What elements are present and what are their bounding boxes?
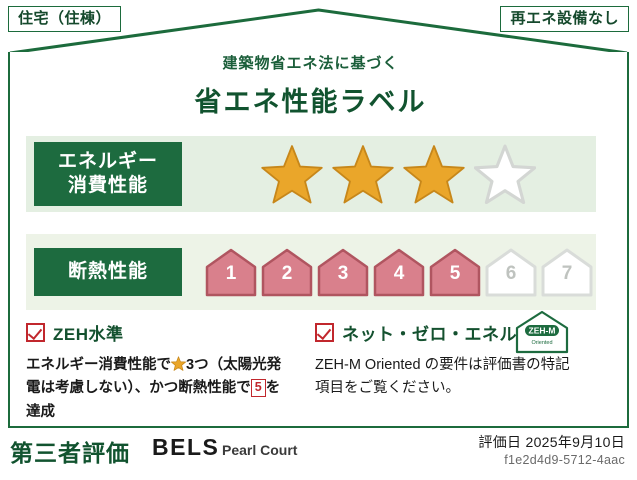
title-main: 省エネ性能ラベル bbox=[0, 80, 621, 119]
grade-value-3: 3 bbox=[317, 263, 369, 285]
star-rating bbox=[182, 144, 596, 204]
grade-house-3: 3 bbox=[317, 247, 369, 297]
energy-performance-row: エネルギー 消費性能 bbox=[26, 136, 596, 212]
grade-value-4: 4 bbox=[373, 263, 425, 285]
check-zeh-header: ZEH水準 bbox=[26, 320, 315, 345]
footer: 第三者評価 BELS Pearl Court 評価日 2025年9月10日 f1… bbox=[0, 428, 637, 480]
check-nze-body: ZEH-M Oriented の要件は評価書の特記 項目をご覧ください。 bbox=[315, 354, 583, 401]
svg-text:ZEH-M: ZEH-M bbox=[529, 326, 556, 336]
grade-house-2: 2 bbox=[261, 247, 313, 297]
star-icon-filled-3 bbox=[403, 144, 465, 204]
grade-value-2: 2 bbox=[261, 263, 313, 285]
zeh-m-logo-icon: ZEH-M Oriented bbox=[514, 310, 570, 354]
check-zeh-text-1: エネルギー消費性能で bbox=[26, 357, 171, 373]
check-nze-text-2: 項目をご覧ください。 bbox=[315, 380, 460, 396]
grade-value-5: 5 bbox=[429, 263, 481, 285]
grade-value-6: 6 bbox=[485, 263, 537, 285]
footer-third-party-evaluation: 第三者評価 bbox=[10, 434, 130, 468]
star-icon-filled-2 bbox=[332, 144, 394, 204]
grade-value-1: 1 bbox=[205, 263, 257, 285]
check-nze-text-1: ZEH-M Oriented の要件は評価書の特記 bbox=[315, 357, 570, 373]
title-subtitle: 建築物省エネ法に基づく bbox=[0, 52, 621, 73]
checks-section: ZEH水準 エネルギー消費性能で3つ（太陽光発電は考慮しない）、かつ断熱性能で5… bbox=[26, 320, 604, 424]
star-icon-inline bbox=[171, 356, 186, 371]
energy-performance-label-box: エネルギー 消費性能 bbox=[34, 142, 182, 206]
energy-label-line2: 消費性能 bbox=[68, 175, 148, 196]
svg-text:Oriented: Oriented bbox=[531, 340, 552, 346]
check-zeh-body: エネルギー消費性能で3つ（太陽光発電は考慮しない）、かつ断熱性能で5を達成 bbox=[26, 354, 294, 424]
label-title: 建築物省エネ法に基づく 省エネ性能ラベル bbox=[0, 52, 621, 119]
grade-badge-5: 5 bbox=[251, 379, 266, 397]
insulation-performance-row: 断熱性能 1 2 3 4 5 6 bbox=[26, 234, 596, 310]
checkmark-icon-nze bbox=[315, 323, 334, 342]
grade-house-5: 5 bbox=[429, 247, 481, 297]
energy-label-line1: エネルギー bbox=[58, 151, 158, 172]
grade-house-6: 6 bbox=[485, 247, 537, 297]
check-zeh-standard: ZEH水準 エネルギー消費性能で3つ（太陽光発電は考慮しない）、かつ断熱性能で5… bbox=[26, 320, 315, 424]
footer-bels-logo: BELS bbox=[152, 434, 219, 461]
check-zeh-title: ZEH水準 bbox=[53, 320, 124, 345]
roof-shape bbox=[8, 8, 629, 54]
insulation-grade-scale: 1 2 3 4 5 6 7 bbox=[182, 247, 596, 297]
checkmark-icon-zeh bbox=[26, 323, 45, 342]
grade-house-7: 7 bbox=[541, 247, 593, 297]
star-icon-filled-1 bbox=[261, 144, 323, 204]
insulation-performance-label-box: 断熱性能 bbox=[34, 248, 182, 296]
grade-house-4: 4 bbox=[373, 247, 425, 297]
footer-evaluation-date: 評価日 2025年9月10日 bbox=[478, 432, 625, 452]
grade-house-1: 1 bbox=[205, 247, 257, 297]
grade-value-7: 7 bbox=[541, 263, 593, 285]
check-net-zero-energy: ネット・ゼロ・エネルギー ZEH-M Oriented ZEH-M Orient… bbox=[315, 320, 604, 424]
check-zeh-text-3: は考慮しない）、かつ断熱性能で bbox=[41, 380, 251, 396]
footer-project-name: Pearl Court bbox=[222, 442, 297, 458]
footer-reference-code: f1e2d4d9-5712-4aac bbox=[504, 453, 625, 467]
star-icon-empty-4 bbox=[474, 144, 536, 204]
energy-performance-label: 住宅（住棟） 再エネ設備なし 建築物省エネ法に基づく 省エネ性能ラベル エネルギ… bbox=[0, 0, 637, 480]
